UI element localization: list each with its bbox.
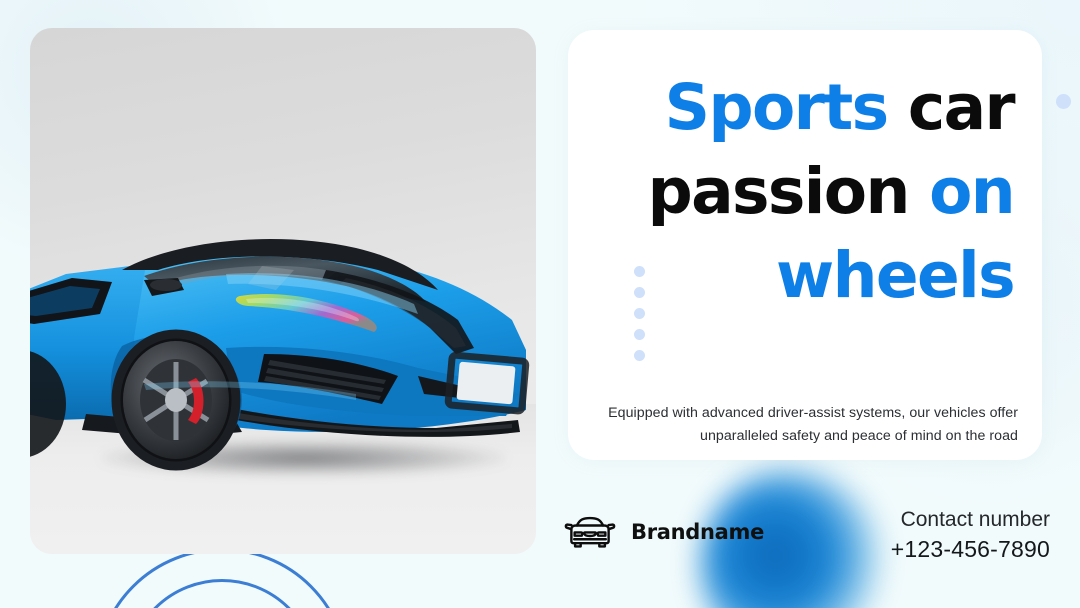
sports-car-illustration [30,178,536,508]
car-photo [30,28,536,554]
headline-word-wheels: wheels [776,239,1014,312]
car-front-icon [563,513,617,551]
car-photo-inner [30,28,536,554]
ring-outer [95,548,349,608]
headline-card: Sports car passion on wheels Equipped wi… [568,30,1042,460]
headline-word-car: car [908,71,1014,144]
concentric-rings-decoration [98,548,346,608]
decor-dot [634,287,645,298]
page-title: Sports car passion on wheels [592,66,1014,317]
contact-block: Contact number +123-456-7890 [891,506,1050,565]
poster-canvas: Sports car passion on wheels Equipped wi… [0,0,1080,608]
contact-label: Contact number [891,506,1050,534]
decor-dot [634,308,645,319]
decor-dot [634,350,645,361]
brand-name: Brandname [631,520,764,544]
headline-word-on: on [929,155,1014,228]
accent-dot-right [1056,94,1071,109]
brand-lockup[interactable]: Brandname [563,513,764,551]
headline-word-sports: Sports [665,71,888,144]
description-text: Equipped with advanced driver-assist sys… [608,402,1018,448]
contact-number[interactable]: +123-456-7890 [891,534,1050,565]
decor-dot [634,266,645,277]
ring-middle [126,579,318,608]
decor-dot [634,329,645,340]
headline-word-passion: passion [648,155,909,228]
dot-column-decoration [634,266,645,361]
